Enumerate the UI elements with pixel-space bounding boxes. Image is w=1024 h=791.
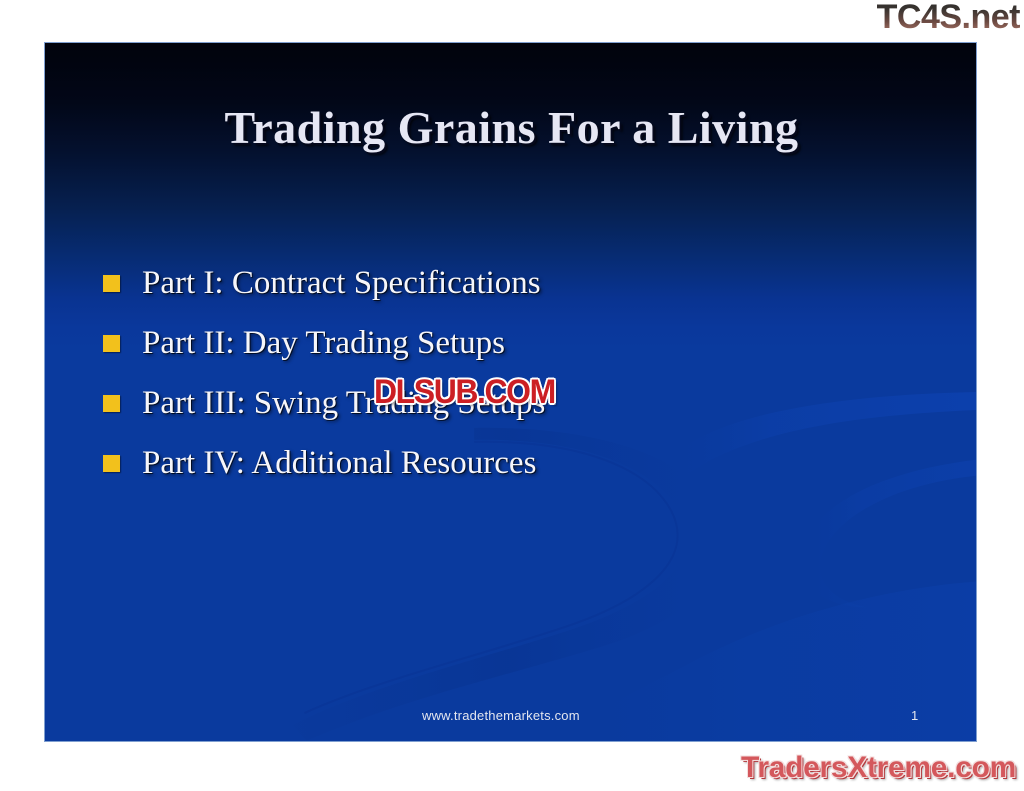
watermark-tradersxtreme-com: TradersXtreme.com xyxy=(741,751,1016,785)
square-bullet-icon xyxy=(103,395,120,412)
bullet-label: Part IV: Additional Resources xyxy=(142,445,536,482)
slide-title: Trading Grains For a Living xyxy=(45,101,977,154)
watermark-tc4s-net: TC4S.net xyxy=(877,0,1020,36)
square-bullet-icon xyxy=(103,455,120,472)
square-bullet-icon xyxy=(103,275,120,292)
bullet-label: Part I: Contract Specifications xyxy=(142,265,541,302)
watermark-dlsub-com: DLSUB.COM xyxy=(374,373,555,412)
bullet-label: Part II: Day Trading Setups xyxy=(142,325,505,362)
footer-page-number: 1 xyxy=(911,708,918,723)
bullet-item-part-2: Part II: Day Trading Setups xyxy=(103,313,963,373)
bullet-item-part-1: Part I: Contract Specifications xyxy=(103,253,963,313)
bullet-item-part-4: Part IV: Additional Resources xyxy=(103,433,963,493)
footer-website-url: www.tradethemarkets.com xyxy=(422,708,580,723)
square-bullet-icon xyxy=(103,335,120,352)
